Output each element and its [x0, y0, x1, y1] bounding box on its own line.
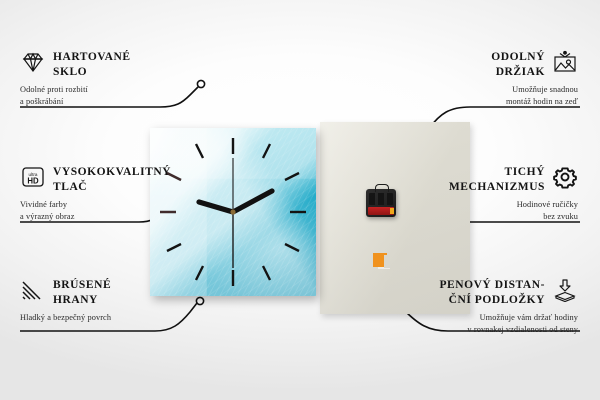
feature-tempered-glass: HARTOVANÉ SKLO Odolné proti rozbití a po… [20, 50, 190, 108]
clock-mechanism [366, 189, 396, 217]
foam-spacer [373, 253, 387, 267]
feature-title: BRÚSENÉ HRANY [53, 278, 111, 308]
feature-head: ultra HD VYSOKOKVALITNÝ TLAČ [20, 165, 200, 195]
infographic-stage: HARTOVANÉ SKLO Odolné proti rozbití a po… [0, 0, 600, 400]
feature-desc: Umožňuje vám držať hodiny v rovnakej vzd… [373, 308, 578, 336]
feature-durable-hanger: ODOLNÝ DRŽIAK Umožňuje snadnou montáž ho… [403, 50, 578, 108]
feature-title: TICHÝ MECHANIZMUS [449, 165, 545, 195]
leader-dot-1 [197, 80, 204, 87]
feature-head: HARTOVANÉ SKLO [20, 50, 190, 80]
feature-head: TICHÝ MECHANIZMUS [393, 165, 578, 195]
sanded-edges-icon [20, 278, 46, 302]
feature-title: ODOLNÝ DRŽIAK [491, 50, 545, 80]
feature-silent-mechanism: TICHÝ MECHANIZMUS Hodinové ručičky bez z… [393, 165, 578, 223]
mechanism-slots [369, 193, 393, 205]
mechanism-hook [375, 184, 389, 192]
gear-icon [552, 165, 578, 189]
feature-head: PENOVÝ DISTAN- ČNÍ PODLOŽKY [373, 278, 578, 308]
foam-pad-icon [552, 278, 578, 302]
feature-desc: Hladký a bezpečný povrch [20, 308, 200, 324]
feature-foam-spacers: PENOVÝ DISTAN- ČNÍ PODLOŽKY Umožňuje vám… [373, 278, 578, 336]
feature-head: ODOLNÝ DRŽIAK [403, 50, 578, 80]
feature-head: BRÚSENÉ HRANY [20, 278, 200, 308]
picture-hanger-icon [552, 50, 578, 74]
feature-hq-print: ultra HD VYSOKOKVALITNÝ TLAČ Vividné far… [20, 165, 200, 223]
ultra-hd-icon: ultra HD [20, 165, 46, 189]
battery [368, 207, 394, 215]
feature-title: PENOVÝ DISTAN- ČNÍ PODLOŽKY [439, 278, 545, 308]
feature-desc: Vividné farby a výrazný obraz [20, 195, 200, 223]
svg-text:HD: HD [27, 177, 39, 186]
feature-desc: Odolné proti rozbití a poškrábání [20, 80, 190, 108]
feature-title: HARTOVANÉ SKLO [53, 50, 131, 80]
diamond-icon [20, 50, 46, 74]
feature-desc: Hodinové ručičky bez zvuku [393, 195, 578, 223]
feature-title: VYSOKOKVALITNÝ TLAČ [53, 165, 171, 195]
feature-sanded-edges: BRÚSENÉ HRANY Hladký a bezpečný povrch [20, 278, 200, 324]
feature-desc: Umožňuje snadnou montáž hodin na zeď [403, 80, 578, 108]
